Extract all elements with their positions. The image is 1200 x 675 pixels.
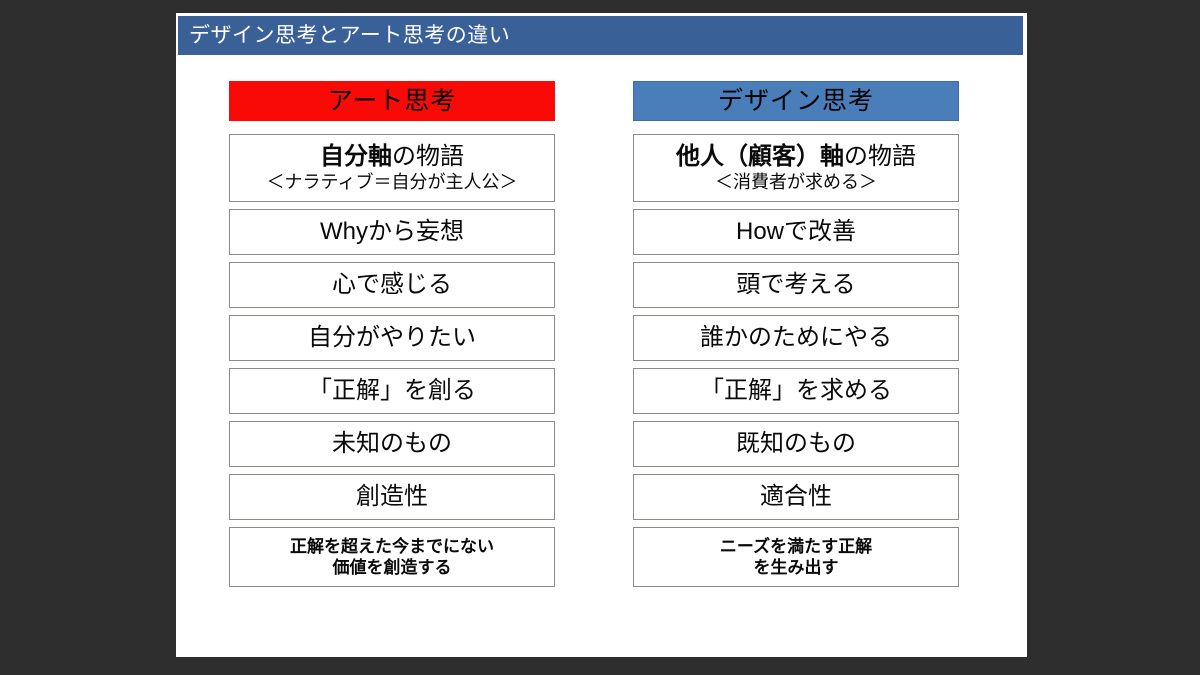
cell-main-text: 適合性	[760, 484, 832, 511]
cell-main-rest: の物語	[844, 143, 916, 170]
table-row: Whyから妄想	[229, 209, 555, 255]
cell-list-design-thinking: 他人（顧客）軸の物語 ＜消費者が求める＞ Howで改善 頭で考える 誰かのために…	[633, 134, 959, 594]
summary-line-2: 価値を創造する	[333, 557, 452, 578]
table-row: 既知のもの	[633, 421, 959, 467]
cell-main-text: Whyから妄想	[320, 219, 464, 246]
table-row: 自分軸の物語 ＜ナラティブ＝自分が主人公＞	[229, 134, 555, 202]
comparison-table: アート思考 自分軸の物語 ＜ナラティブ＝自分が主人公＞ Whyから妄想 心で感じ…	[176, 13, 1027, 657]
cell-main-text: 創造性	[356, 484, 428, 511]
table-row: Howで改善	[633, 209, 959, 255]
cell-sub-text: ＜ナラティブ＝自分が主人公＞	[267, 172, 518, 193]
table-row: 誰かのためにやる	[633, 315, 959, 361]
table-row: 未知のもの	[229, 421, 555, 467]
cell-main-text: 頭で考える	[736, 272, 855, 299]
table-row: 適合性	[633, 474, 959, 520]
cell-main-bold: 他人（顧客）軸	[676, 143, 844, 170]
cell-main-text: 他人（顧客）軸の物語	[676, 144, 916, 171]
cell-main-text: 誰かのためにやる	[700, 325, 892, 352]
cell-main-text: 心で感じる	[332, 272, 452, 299]
cell-main-text: 自分がやりたい	[308, 325, 476, 352]
table-row: 自分がやりたい	[229, 315, 555, 361]
table-row-summary: 正解を超えた今までにない 価値を創造する	[229, 527, 555, 587]
table-row-summary: ニーズを満たす正解 を生み出す	[633, 527, 959, 587]
table-row: 「正解」を創る	[229, 368, 555, 414]
cell-main-bold: 自分軸	[320, 143, 392, 170]
table-row: 創造性	[229, 474, 555, 520]
summary-line-1: 正解を超えた今までにない	[290, 536, 494, 557]
cell-main-rest: の物語	[392, 143, 464, 170]
table-row: 頭で考える	[633, 262, 959, 308]
cell-sub-text: ＜消費者が求める＞	[715, 172, 877, 193]
cell-main-text: Howで改善	[736, 219, 856, 246]
slide-canvas: デザイン思考とアート思考の違い アート思考 自分軸の物語 ＜ナラティブ＝自分が主…	[176, 13, 1027, 657]
cell-list-art-thinking: 自分軸の物語 ＜ナラティブ＝自分が主人公＞ Whyから妄想 心で感じる 自分がや…	[229, 134, 555, 594]
cell-main-text: 「正解」を求める	[700, 378, 892, 405]
screenshot-stage: デザイン思考とアート思考の違い アート思考 自分軸の物語 ＜ナラティブ＝自分が主…	[0, 0, 1200, 675]
table-row: 他人（顧客）軸の物語 ＜消費者が求める＞	[633, 134, 959, 202]
cell-main-text: 既知のもの	[736, 431, 856, 458]
cell-main-text: 未知のもの	[332, 431, 452, 458]
cell-main-text: 自分軸の物語	[320, 144, 464, 171]
cell-main-text: 「正解」を創る	[308, 378, 476, 405]
summary-line-2: を生み出す	[754, 557, 839, 578]
column-header-design-thinking: デザイン思考	[633, 81, 959, 121]
table-row: 「正解」を求める	[633, 368, 959, 414]
summary-line-1: ニーズを満たす正解	[720, 536, 872, 557]
column-header-art-thinking: アート思考	[229, 81, 555, 121]
table-row: 心で感じる	[229, 262, 555, 308]
